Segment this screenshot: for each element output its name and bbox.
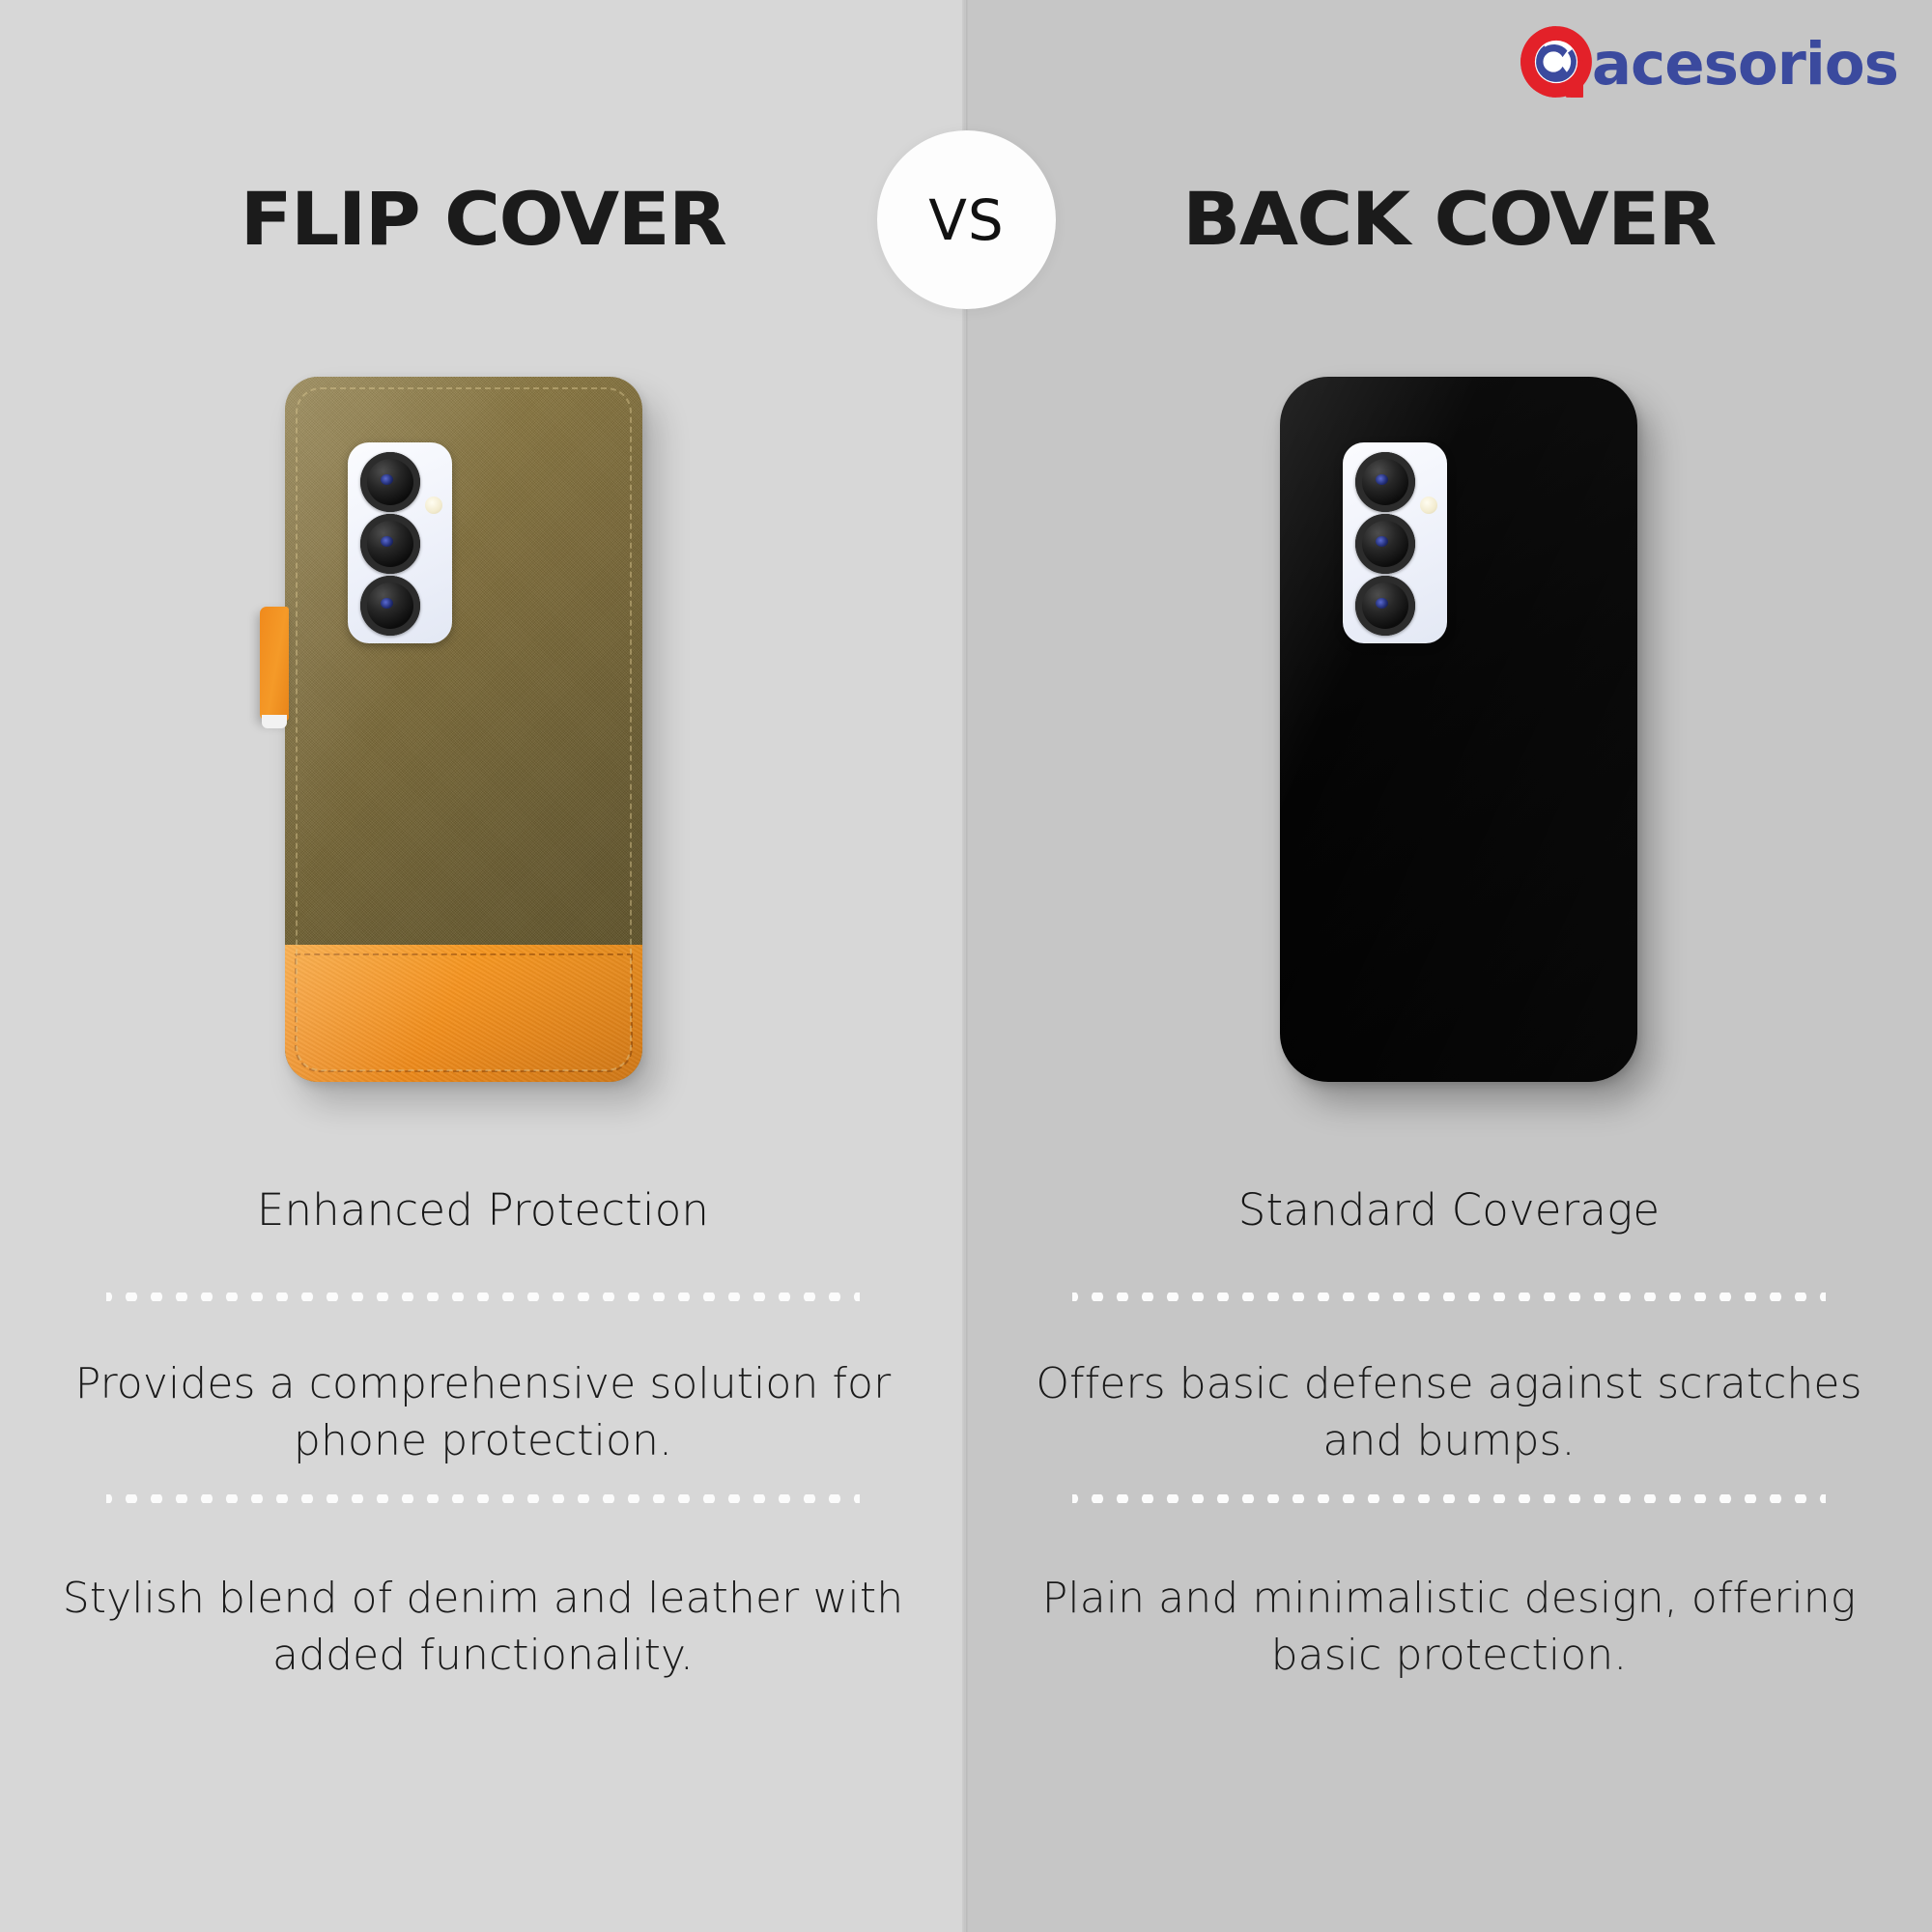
dotted-divider [106,1494,860,1503]
feature-text-flip-2: Stylish blend of denim and leather with … [53,1571,913,1684]
acesorios-a-mark-icon [1517,22,1596,101]
brand-logo[interactable]: acesorios [1517,21,1898,102]
camera-lens-icon [1355,514,1415,574]
camera-lens-icon [1355,452,1415,512]
leather-bottom-band [285,945,642,1082]
camera-flash-icon [1420,497,1437,514]
subtitle-back-cover: Standard Coverage [966,1184,1932,1236]
magnetic-closure-tab [260,607,289,721]
heading-flip-cover: FLIP COVER [0,165,985,271]
camera-flash-icon [425,497,442,514]
camera-lens-icon [360,452,420,512]
dotted-divider [1072,1293,1826,1301]
camera-module [348,442,452,643]
camera-module [1343,442,1447,643]
back-cover-case [1280,377,1637,1082]
feature-text-back-1: Offers basic defense against scratches a… [1019,1356,1879,1469]
feature-text-flip-1: Provides a comprehensive solution for ph… [53,1356,913,1469]
heading-back-cover: BACK COVER [947,165,1932,271]
versus-badge: VS [877,130,1056,309]
camera-lens-icon [360,514,420,574]
feature-text-back-2: Plain and minimalistic design, offering … [1019,1571,1879,1684]
dotted-divider [1072,1494,1826,1503]
brand-name: acesorios [1592,35,1898,94]
dotted-divider [106,1293,860,1301]
camera-lens-icon [360,576,420,636]
product-image-flip-cover [285,377,642,1082]
flip-cover-case [285,377,642,1082]
infographic-canvas: acesorios FLIP COVER BACK COVER VS [0,0,1932,1932]
product-image-back-cover [1280,377,1637,1082]
camera-lens-icon [1355,576,1415,636]
subtitle-flip-cover: Enhanced Protection [0,1184,966,1236]
